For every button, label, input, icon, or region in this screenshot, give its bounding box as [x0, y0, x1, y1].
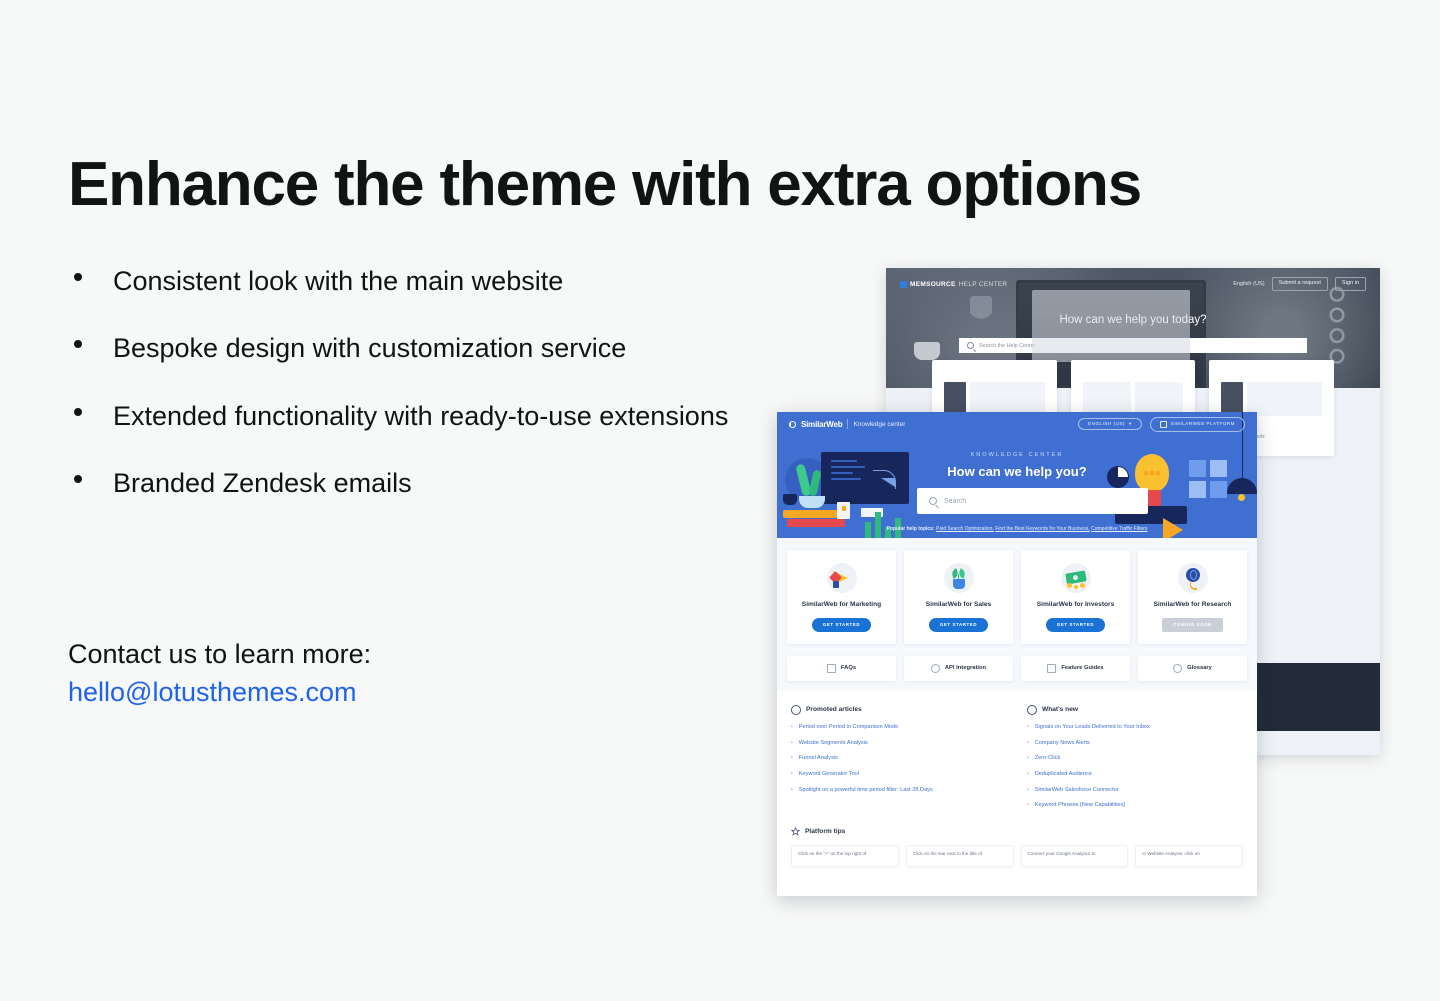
similarweb-search-input[interactable]: Search [917, 488, 1148, 514]
similarweb-top-actions: ENGLISH (US) ▾ SIMILARWEB PLATFORM [1078, 417, 1245, 432]
quick-link-faqs[interactable]: FAQs [787, 656, 896, 681]
bullet-dot-icon: • [791, 739, 793, 748]
memsource-nav: English (US) Submit a request Sign in [1233, 277, 1366, 291]
similarweb-body: SimilarWeb for Marketing GET STARTED Sim… [777, 538, 1257, 691]
article-link: Website Segments Analysis [799, 739, 868, 748]
bullet-dot-icon: • [1027, 801, 1029, 810]
quick-link-feature-guides[interactable]: Feature Guides [1021, 656, 1130, 681]
platform-tip-card[interactable]: Click on the star next to the title of [906, 845, 1014, 867]
hero-megaphone-icon [881, 478, 895, 487]
language-label: ENGLISH (US) [1088, 422, 1125, 427]
hero-lampshade-icon [1227, 478, 1257, 494]
quick-link-row: FAQs API Integration Feature Guides Glos… [787, 656, 1247, 681]
platform-tips-heading: Platform tips [805, 828, 845, 835]
money-icon [1061, 563, 1091, 593]
hero-title: How can we help you? [777, 464, 1257, 479]
product-card-title: SimilarWeb for Investors [1027, 600, 1124, 610]
hero-lampbulb-icon [1238, 494, 1245, 501]
popular-topics-label: Popular help topics: [887, 526, 935, 532]
quick-link-label: API Integration [945, 665, 986, 671]
lamp-decoration-icon [1320, 284, 1354, 370]
similarweb-logo-text: SimilarWeb [801, 420, 842, 429]
similarweb-platform-button[interactable]: SIMILARWEB PLATFORM [1150, 417, 1245, 432]
platform-label: SIMILARWEB PLATFORM [1171, 422, 1235, 427]
slide-canvas: Enhance the theme with extra options Con… [0, 0, 1440, 1001]
hero-kicker: KNOWLEDGE CENTER [777, 452, 1257, 458]
cup-decoration-icon [914, 342, 940, 360]
topic-link[interactable]: Competitive Traffic Filters [1091, 526, 1147, 532]
list-item[interactable]: •Keyword Phrases [New Capabilities] [1027, 801, 1243, 810]
card-thumbnail [1083, 382, 1184, 416]
article-link: Funnel Analysis [799, 754, 838, 763]
bullet-dot-icon: • [791, 770, 793, 779]
list-item[interactable]: •Zero-Click [1027, 754, 1243, 763]
list-item-label: Consistent look with the main website [113, 266, 563, 296]
product-card-research[interactable]: SimilarWeb for Research COMING SOON [1138, 550, 1247, 644]
submit-request-button[interactable]: Submit a request [1272, 277, 1328, 291]
quick-link-label: FAQs [841, 665, 856, 671]
chevron-down-icon: ▾ [1129, 422, 1132, 427]
article-lists: Promoted articles •Period over Period in… [777, 691, 1257, 817]
coming-soon-badge: COMING SOON [1162, 618, 1223, 632]
document-icon [1047, 664, 1056, 673]
list-item[interactable]: •Deduplicated Audience [1027, 770, 1243, 779]
article-link: SimilarWeb Salesforce Connector [1035, 786, 1119, 795]
bullet-dot-icon [74, 273, 82, 281]
list-item[interactable]: •Website Segments Analysis [791, 739, 1007, 748]
platform-tip-card[interactable]: Connect your Google Analytics to [1021, 845, 1129, 867]
bullet-dot-icon: • [1027, 786, 1029, 795]
platform-tips-section: Platform tips Click on the "+" on the to… [777, 817, 1257, 867]
platform-tip-card[interactable]: In Website Analysis, click on [1135, 845, 1243, 867]
wrench-icon [931, 664, 940, 673]
product-card-title: SimilarWeb for Research [1144, 600, 1241, 610]
similarweb-hero-text: KNOWLEDGE CENTER How can we help you? [777, 452, 1257, 479]
sign-in-button[interactable]: Sign in [1335, 277, 1366, 291]
platform-tip-card-row: Click on the "+" on the top right of Cli… [791, 845, 1243, 867]
star-icon [791, 827, 800, 836]
whats-new-column: What's new •Signals on Your Leads Delive… [1027, 705, 1243, 817]
contact-label: Contact us to learn more: [68, 635, 668, 673]
get-started-button[interactable]: GET STARTED [1046, 618, 1105, 632]
page-title: Enhance the theme with extra options [68, 152, 1318, 217]
similarweb-logo[interactable]: SimilarWeb Knowledge center [789, 419, 905, 429]
get-started-button[interactable]: GET STARTED [812, 618, 871, 632]
hero-cup-icon [783, 494, 797, 505]
similarweb-knowledge-center-screenshot: SimilarWeb Knowledge center ENGLISH (US)… [777, 412, 1257, 896]
fire-icon [791, 705, 801, 715]
memsource-logo-bold: MEMSOURCE [910, 281, 956, 288]
hero-book-icon [783, 510, 845, 518]
quick-link-api-integration[interactable]: API Integration [904, 656, 1013, 681]
list-item[interactable]: •Period over Period in Comparison Mode [791, 723, 1007, 732]
list-item: Bespoke design with customization servic… [68, 329, 748, 367]
feature-bullet-list: Consistent look with the main website Be… [68, 262, 748, 531]
article-link: Signals on Your Leads Delivered to Your … [1035, 723, 1150, 732]
list-item-label: Bespoke design with customization servic… [113, 333, 626, 363]
list-item[interactable]: •Keyword Generator Tool [791, 770, 1007, 779]
similarweb-top-bar: SimilarWeb Knowledge center ENGLISH (US)… [777, 412, 1257, 436]
article-link: Deduplicated Audience [1035, 770, 1092, 779]
get-started-button[interactable]: GET STARTED [929, 618, 988, 632]
article-link: Spotlight on a powerful time period filt… [799, 786, 933, 795]
plant-icon [944, 563, 974, 593]
bullet-dot-icon [74, 340, 82, 348]
promoted-articles-column: Promoted articles •Period over Period in… [791, 705, 1007, 817]
quick-link-glossary[interactable]: Glossary [1138, 656, 1247, 681]
hero-note-icon [837, 502, 850, 519]
promoted-articles-heading: Promoted articles [806, 706, 862, 713]
contact-email-link[interactable]: hello@lotusthemes.com [68, 673, 668, 711]
product-card-marketing[interactable]: SimilarWeb for Marketing GET STARTED [787, 550, 896, 644]
platform-tip-card[interactable]: Click on the "+" on the top right of [791, 845, 899, 867]
similarweb-mark-icon [789, 421, 796, 428]
bullet-dot-icon: • [791, 786, 793, 795]
topic-link[interactable]: Find the Best Keywords for Your Business… [995, 526, 1090, 532]
topic-link[interactable]: Paid Search Optimization, [936, 526, 994, 532]
alert-icon [1027, 705, 1037, 715]
list-item[interactable]: •Company News Alerts [1027, 739, 1243, 748]
similarweb-logo-subtitle: Knowledge center [853, 421, 905, 428]
memsource-search-input[interactable]: Search the Help Center [959, 338, 1307, 353]
list-item: Consistent look with the main website [68, 262, 748, 300]
list-item[interactable]: •SimilarWeb Salesforce Connector [1027, 786, 1243, 795]
quick-link-label: Glossary [1187, 665, 1212, 671]
bullet-dot-icon: • [1027, 754, 1029, 763]
list-item: Branded Zendesk emails [68, 464, 748, 502]
megaphone-icon [827, 563, 857, 593]
article-link: Period over Period in Comparison Mode [799, 723, 899, 732]
list-item[interactable]: •Funnel Analysis [791, 754, 1007, 763]
card-thumbnail [1221, 382, 1322, 416]
list-item[interactable]: •Spotlight on a powerful time period fil… [791, 786, 1007, 795]
product-card-title: SimilarWeb for Sales [910, 600, 1007, 610]
language-selector[interactable]: ENGLISH (US) ▾ [1078, 418, 1142, 431]
memsource-logo-thin: HELP CENTER [959, 281, 1008, 288]
memsource-mark-icon [900, 281, 907, 288]
list-item-label: Branded Zendesk emails [113, 468, 412, 498]
product-card-row: SimilarWeb for Marketing GET STARTED Sim… [787, 550, 1247, 644]
search-icon [967, 342, 974, 349]
quick-link-label: Feature Guides [1061, 665, 1103, 671]
language-selector[interactable]: English (US) [1233, 281, 1264, 287]
article-link: Keyword Phrases [New Capabilities] [1035, 801, 1125, 810]
logo-divider [847, 419, 848, 429]
product-card-title: SimilarWeb for Marketing [793, 600, 890, 610]
whats-new-heading: What's new [1042, 706, 1078, 713]
contact-block: Contact us to learn more: hello@lotusthe… [68, 635, 668, 712]
memsource-hero-title: How can we help you today? [886, 314, 1380, 326]
product-card-investors[interactable]: SimilarWeb for Investors GET STARTED [1021, 550, 1130, 644]
article-link: Zero-Click [1035, 754, 1060, 763]
bullet-dot-icon: • [1027, 723, 1029, 732]
bullet-dot-icon: • [1027, 739, 1029, 748]
memsource-logo[interactable]: MEMSOURCE HELP CENTER [900, 281, 1007, 288]
hero-bowl-icon [799, 496, 825, 508]
similarweb-hero: SimilarWeb Knowledge center ENGLISH (US)… [777, 412, 1257, 538]
bullet-dot-icon: • [791, 754, 793, 763]
list-item: Extended functionality with ready-to-use… [68, 397, 748, 435]
article-link: Keyword Generator Tool [799, 770, 859, 779]
memsource-top-bar: MEMSOURCE HELP CENTER English (US) Submi… [886, 276, 1380, 292]
globe-icon [1178, 563, 1208, 593]
list-item[interactable]: •Signals on Your Leads Delivered to Your… [1027, 723, 1243, 732]
search-placeholder: Search [944, 498, 966, 505]
bullet-dot-icon: • [1027, 770, 1029, 779]
bullet-dot-icon [74, 408, 82, 416]
info-icon [1173, 664, 1182, 673]
screenshot-stack: MEMSOURCE HELP CENTER English (US) Submi… [880, 260, 1390, 760]
chart-icon [827, 664, 836, 673]
bullet-dot-icon: • [791, 723, 793, 732]
article-link: Company News Alerts [1035, 739, 1090, 748]
bullet-dot-icon [74, 475, 82, 483]
list-item-label: Extended functionality with ready-to-use… [113, 401, 728, 431]
popular-topics-bar: Popular help topics: Paid Search Optimiz… [777, 526, 1257, 532]
product-card-sales[interactable]: SimilarWeb for Sales GET STARTED [904, 550, 1013, 644]
external-link-icon [1160, 421, 1167, 428]
card-thumbnail [944, 382, 1045, 416]
memsource-search-placeholder: Search the Help Center [979, 343, 1035, 349]
hero-bar-chart-icon [865, 512, 901, 538]
search-icon [929, 497, 937, 505]
